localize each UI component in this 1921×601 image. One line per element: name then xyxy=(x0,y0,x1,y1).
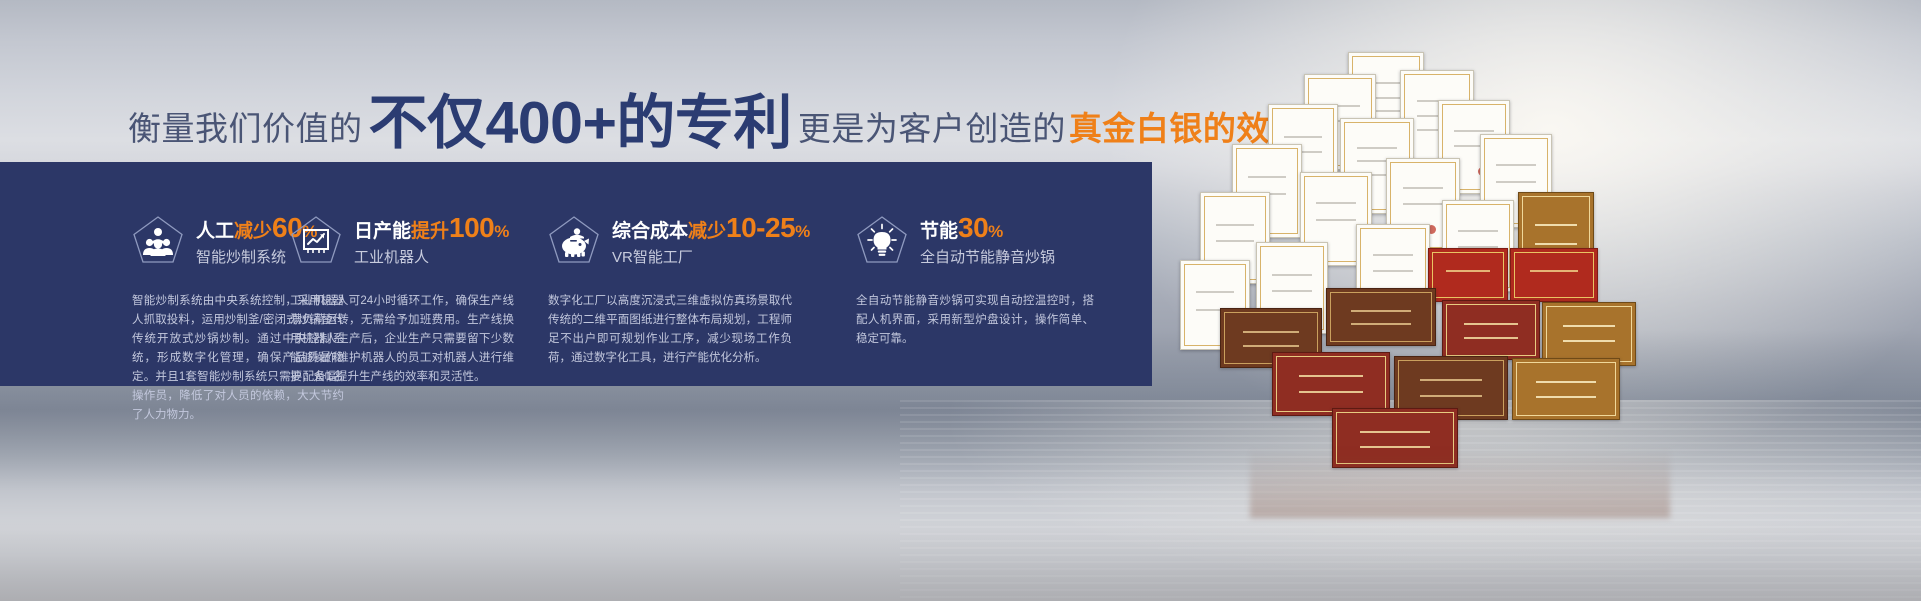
feature-header: 日产能提升100% 工业机器人 xyxy=(290,214,536,270)
feature-title-prefix: 人工 xyxy=(196,221,234,242)
chart-growth-icon xyxy=(290,215,342,265)
feature-subtitle: 全自动节能静音炒锅 xyxy=(920,246,1055,270)
feature-title-change: 减少 xyxy=(234,221,272,242)
feature-subtitle: VR智能工厂 xyxy=(612,246,810,270)
certificate-item xyxy=(1428,248,1508,302)
certificate-item xyxy=(1272,352,1390,416)
headline-middle: 更是为客户创造的 xyxy=(798,102,1066,150)
feature-body: 全自动节能静音炒锅可实现自动控温控时，搭配人机界面，采用新型炉盘设计，操作简单、… xyxy=(856,292,1094,349)
feature-title-prefix: 综合成本 xyxy=(612,221,688,242)
feature-list: 人工减少60% 智能炒制系统 智能炒制系统由中央系统控制，采用机器人抓取投料，运… xyxy=(0,162,1152,386)
feature-title-unit: % xyxy=(988,222,1003,241)
feature-title: 综合成本减少10-25% xyxy=(612,215,810,244)
headline-lead: 衡量我们价值的 xyxy=(128,102,363,150)
feature-title-number: 10-25 xyxy=(726,212,795,243)
feature-item[interactable]: 综合成本减少10-25% VR智能工厂 数字化工厂以高度沉浸式三维虚拟仿真场景取… xyxy=(536,162,844,386)
certificate-item xyxy=(1332,408,1458,468)
certificate-award-collage xyxy=(1180,52,1740,472)
certificate-item xyxy=(1326,288,1436,346)
certificate-item xyxy=(1542,302,1636,366)
feature-body: 数字化工厂以高度沉浸式三维虚拟仿真场景取代传统的二维平面图纸进行整体布局规划，工… xyxy=(548,292,792,368)
headline-strong: 不仅400+的专利 xyxy=(369,75,792,160)
feature-header: 综合成本减少10-25% VR智能工厂 xyxy=(548,214,844,270)
feature-item[interactable]: 节能30% 全自动节能静音炒锅 全自动节能静音炒锅可实现自动控温控时，搭配人机界… xyxy=(844,162,1152,386)
headline: 衡量我们价值的 不仅400+的专利 更是为客户创造的 真金白银的效益 xyxy=(128,72,1303,140)
feature-title-unit: % xyxy=(795,222,810,241)
feature-title: 日产能提升100% xyxy=(354,215,509,244)
feature-item[interactable]: 日产能提升100% 工业机器人 工业机器人可24小时循环工作，确保生产线满负荷运… xyxy=(278,162,536,386)
people-group-icon xyxy=(132,215,184,265)
feature-panel: 人工减少60% 智能炒制系统 智能炒制系统由中央系统控制，采用机器人抓取投料，运… xyxy=(0,162,1152,386)
feature-text: 节能30% 全自动节能静音炒锅 xyxy=(920,214,1055,270)
feature-header: 节能30% 全自动节能静音炒锅 xyxy=(856,214,1152,270)
feature-title-prefix: 节能 xyxy=(920,221,958,242)
feature-text: 日产能提升100% 工业机器人 xyxy=(354,214,509,270)
feature-title-change: 提升 xyxy=(411,221,449,242)
feature-item[interactable]: 人工减少60% 智能炒制系统 智能炒制系统由中央系统控制，采用机器人抓取投料，运… xyxy=(0,162,278,386)
feature-subtitle: 工业机器人 xyxy=(354,246,509,270)
feature-title-number: 100 xyxy=(449,212,494,243)
certificate-item xyxy=(1510,248,1598,302)
feature-title: 节能30% xyxy=(920,215,1055,244)
certificate-item xyxy=(1512,358,1620,420)
promo-banner: 衡量我们价值的 不仅400+的专利 更是为客户创造的 真金白银的效益 xyxy=(0,0,1921,601)
feature-title-prefix: 日产能 xyxy=(354,221,411,242)
piggy-bank-icon xyxy=(548,215,600,265)
lightbulb-icon xyxy=(856,215,908,265)
feature-title-unit: % xyxy=(494,222,509,241)
feature-text: 综合成本减少10-25% VR智能工厂 xyxy=(612,214,810,270)
feature-header: 人工减少60% 智能炒制系统 xyxy=(132,214,278,270)
feature-body: 工业机器人可24小时循环工作，确保生产线满负荷运转，无需给予加班费用。生产线换用… xyxy=(290,292,514,387)
feature-title-change: 减少 xyxy=(688,221,726,242)
certificate-item xyxy=(1442,300,1540,360)
feature-title-number: 30 xyxy=(958,212,988,243)
